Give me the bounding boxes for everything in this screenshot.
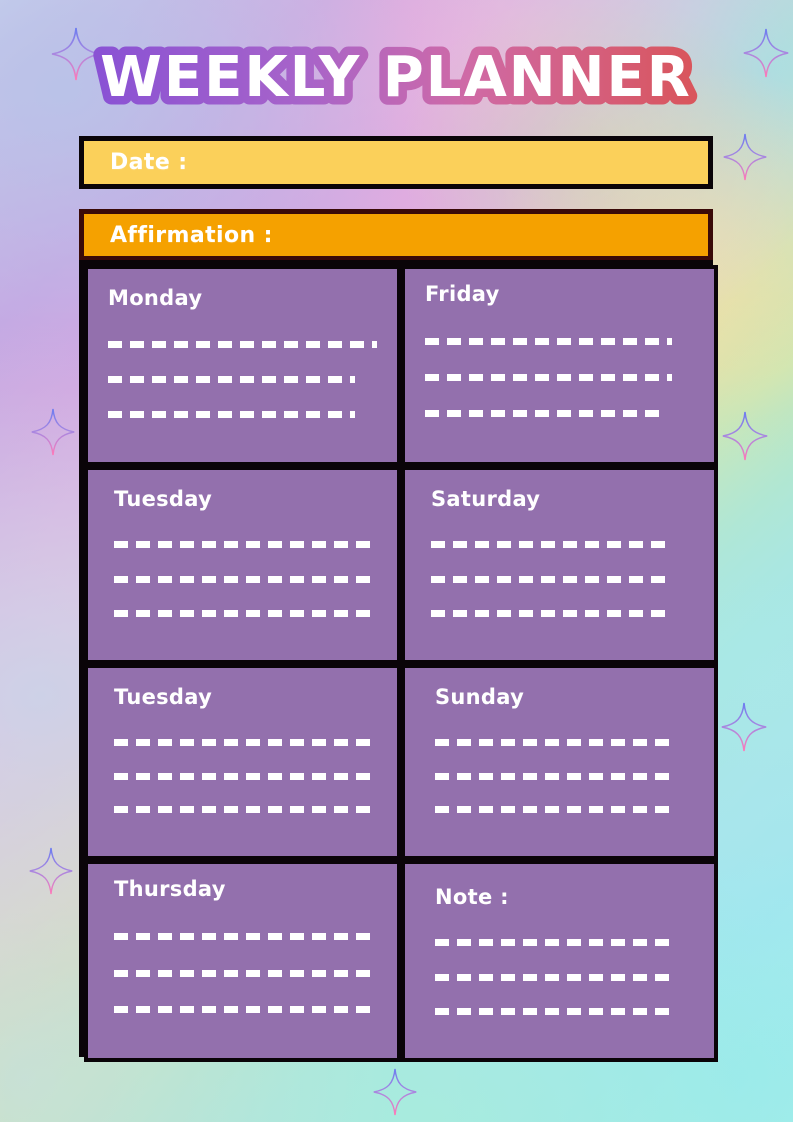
write-line[interactable] [114,576,377,583]
write-lines[interactable] [425,309,694,452]
day-cell-saturday[interactable]: Saturday [401,466,718,664]
write-lines[interactable] [435,912,694,1048]
planner-grid: Monday Friday Tuesday Satu [79,260,713,1057]
day-label: Tuesday [114,686,377,708]
write-line[interactable] [431,576,673,583]
affirmation-field[interactable]: Affirmation : [79,209,713,261]
write-line[interactable] [114,970,377,977]
write-line[interactable] [435,773,673,780]
write-line[interactable] [114,610,377,617]
write-line[interactable] [435,974,673,981]
note-cell[interactable]: Note : [401,860,718,1062]
affirmation-label: Affirmation : [110,223,273,248]
date-field[interactable]: Date : [79,136,713,189]
svg-text:WEEKLY PLANNER: WEEKLY PLANNER [100,45,692,110]
write-line[interactable] [114,773,377,780]
day-label: Monday [108,287,377,309]
write-line[interactable] [435,939,673,946]
day-label: Sunday [435,686,694,708]
write-line[interactable] [114,933,377,940]
write-line[interactable] [108,341,377,348]
day-label: Saturday [431,488,694,510]
write-line[interactable] [425,410,662,417]
day-cell-tuesday[interactable]: Tuesday [84,466,401,664]
day-cell-friday[interactable]: Friday [401,265,718,466]
write-line[interactable] [425,374,672,381]
write-line[interactable] [431,610,673,617]
date-label: Date : [110,150,187,175]
day-cell-thursday[interactable]: Thursday [84,860,401,1062]
page-title-graphic: WEEKLY PLANNER [0,34,793,124]
write-line[interactable] [431,541,673,548]
day-label: Thursday [114,878,377,900]
write-line[interactable] [114,1006,377,1013]
write-line[interactable] [435,806,673,813]
day-label: Friday [425,283,694,305]
write-lines[interactable] [114,712,377,846]
planner-page: WEEKLY PLANNER Date : Affirmation : Mond… [0,0,793,1122]
write-line[interactable] [425,338,672,345]
write-lines[interactable] [114,904,377,1048]
write-line[interactable] [114,806,377,813]
write-line[interactable] [435,1008,673,1015]
day-cell-monday[interactable]: Monday [84,265,401,466]
write-lines[interactable] [435,712,694,846]
write-lines[interactable] [114,514,377,650]
write-lines[interactable] [431,514,694,650]
page-title: WEEKLY PLANNER [0,34,793,124]
note-label: Note : [435,886,694,908]
write-lines[interactable] [108,313,377,452]
day-cell-tuesday-2[interactable]: Tuesday [84,664,401,860]
day-label: Tuesday [114,488,377,510]
write-line[interactable] [108,376,355,383]
write-line[interactable] [108,411,355,418]
write-line[interactable] [114,739,377,746]
day-cell-sunday[interactable]: Sunday [401,664,718,860]
write-line[interactable] [114,541,377,548]
write-line[interactable] [435,739,673,746]
